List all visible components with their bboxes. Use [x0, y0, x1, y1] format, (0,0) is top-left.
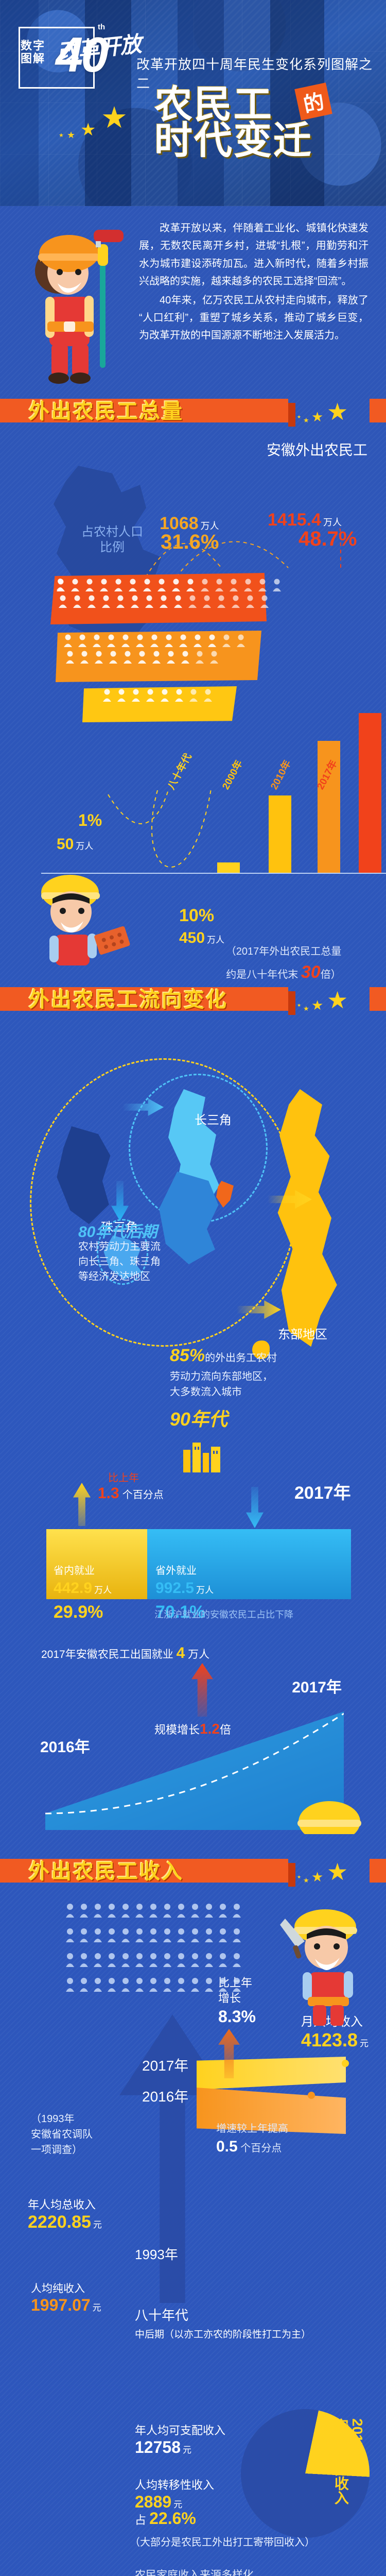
- abroad-growth-arrow-icon: [191, 1663, 213, 1717]
- section-income: （1993年安徽省农调队一项调查） 2017年 2016年 比上年增长8.3% …: [0, 1889, 386, 2576]
- label-east-region: 东部地区: [278, 1324, 327, 1342]
- increase-arrow-icon: [73, 1483, 91, 1526]
- intro-paragraph-2: 40年来，亿万农民工从农村走向城市，释放了“人口红利”，重塑了城乡关系，推动了城…: [139, 292, 369, 345]
- compare-value: 1.3个百分点: [98, 1485, 164, 1502]
- star-icon: ★: [59, 132, 64, 139]
- section-title-flow: 外出农民工流向变化: [29, 983, 228, 1013]
- abroad-year-2016: 2016年: [40, 1734, 90, 1757]
- intro-text: 改革开放以来，伴随着工业化、城镇化快速发展，无数农民离开乡村，进城“扎根”，用勤…: [139, 219, 369, 345]
- hero-banner: 数字图解 40 改革开放 th 改革开放四十周年民生变化系列图解之二 ★ ★ ★…: [0, 0, 386, 206]
- section-title-total: 外出农民工总量: [29, 395, 184, 425]
- mascot-trowel-man: [276, 1894, 374, 2028]
- pie-title: 2017年安徽农民收入: [332, 2418, 365, 2505]
- bar-2017: [359, 713, 381, 874]
- banner-bar-right: [370, 987, 386, 1011]
- hero-title-line2: 时代变迁: [154, 123, 313, 159]
- star-icon: ★: [303, 1876, 309, 1885]
- section-banner-income: 外出农民工收入 ★ ★ ★ ★: [0, 1849, 386, 1889]
- banner-bar-right: [370, 399, 386, 422]
- section-flow-change: 长三角 珠三角 东部地区 80年代后期 农村劳动力主要流向长三角、珠三角等经济发…: [0, 1017, 386, 1625]
- unit-wan: 万人: [323, 517, 342, 528]
- transfer-note: （大部分是农民工外出打工寄带回收入）: [130, 2534, 315, 2549]
- abroad-prefix: 2017年安徽农民工出国就业: [41, 1649, 177, 1660]
- year-total-income-block: 年人均总收入 2220.85元: [28, 2196, 102, 2232]
- income-year-1993: 1993年: [135, 2244, 178, 2263]
- star-icon: ★: [311, 997, 323, 1013]
- abroad-line: 2017年安徽农民工出国就业 4 万人: [41, 1645, 209, 1662]
- disposable-income-block: 年人均可支配收入 12758元: [135, 2421, 225, 2457]
- label-in-province: 省内就业: [54, 1562, 95, 1577]
- value-50: 50万人: [57, 836, 93, 853]
- star-icon: ★: [327, 986, 348, 1014]
- income-year-2017: 2017年: [142, 2055, 188, 2075]
- unit-wan: 万人: [76, 841, 93, 851]
- monthly-income-value: 4123.8元: [301, 2029, 369, 2051]
- speed-value: 0.5: [216, 2138, 238, 2155]
- star-icon: ★: [303, 416, 309, 425]
- transfer-income-block: 人均转移性收入 2889元: [135, 2476, 214, 2512]
- east-share-value: 85%: [170, 1346, 205, 1365]
- share-1-percent: 1%: [78, 811, 102, 830]
- section-banner-flow: 外出农民工流向变化 ★ ★ ★ ★: [0, 977, 386, 1017]
- label-yangtze-delta: 长三角: [195, 1110, 232, 1128]
- compare-number: 1.3: [98, 1485, 119, 1502]
- decrease-arrow-icon: [246, 1487, 264, 1528]
- value-out-province: 992.5万人: [155, 1580, 214, 1597]
- intro-paragraph-1: 改革开放以来，伴随着工业化、城镇化快速发展，无数农民离开乡村，进城“扎根”，用勤…: [139, 219, 369, 291]
- net-income-value: 1997.07元: [31, 2296, 101, 2315]
- star-icon: ★: [297, 1003, 301, 1008]
- share-2017: 48.7%: [299, 528, 357, 551]
- pct-in-province: 29.9%: [54, 1602, 103, 1622]
- speed-prefix: 增速较上年提高: [216, 2123, 288, 2134]
- star-icon: ★: [327, 398, 348, 426]
- transfer-pct-value: 22.6%: [149, 2509, 196, 2528]
- value-in-province: 442.9万人: [54, 1580, 112, 1597]
- stack-year-label: 2017年: [294, 1479, 351, 1504]
- era-80s-description: 农村劳动力主要流向长三角、珠三角等经济发达地区: [78, 1240, 161, 1284]
- value-2017-number: 1415.4: [268, 510, 321, 530]
- share-2010: 31.6%: [161, 531, 219, 554]
- net-income-label: 人均纯收入: [31, 2283, 85, 2295]
- unit-wan: 万人: [201, 521, 219, 531]
- east-share-block: 85%的外出务工农村劳动力流向东部地区，大多数流入城市: [170, 1343, 309, 1400]
- compare-unit: 个百分点: [122, 1489, 164, 1501]
- disposable-label: 年人均可支配收入: [135, 2424, 225, 2437]
- star-icon: ★: [303, 1005, 309, 1013]
- star-icon: ★: [101, 100, 128, 135]
- net-income-block: 人均纯收入 1997.07元: [31, 2280, 101, 2315]
- label-out-province: 省外就业: [155, 1562, 197, 1577]
- star-icon: ★: [327, 1858, 348, 1886]
- disposable-value: 12758元: [135, 2438, 225, 2457]
- income-speed-block: 增速较上年提高 0.5 个百分点: [216, 2122, 288, 2158]
- intro-section: 改革开放以来，伴随着工业化、城镇化快速发展，无数农民离开乡村，进城“扎根”，用勤…: [0, 206, 386, 381]
- x-tick-80s: 八十年代: [164, 751, 195, 792]
- bar-2000: [217, 862, 240, 874]
- infographic-page: 数字图解 40 改革开放 th 改革开放四十周年民生变化系列图解之二 ★ ★ ★…: [0, 0, 386, 2576]
- section-banner-total: 外出农民工总量 ★ ★ ★ ★: [0, 388, 386, 429]
- era-80s-label: 八十年代: [135, 2308, 188, 2323]
- mascot-helmet-peek: [288, 1772, 371, 1834]
- share-10-percent: 10%: [179, 906, 214, 926]
- compare-prev-label: 比上年: [108, 1469, 139, 1484]
- rural-share-label: 占农村人口比例: [66, 524, 159, 555]
- worker-pictogram-grid: [66, 1903, 251, 2001]
- hero-title-particle: 的: [294, 82, 332, 121]
- income-era-80s: 八十年代 中后期（以亦工亦农的阶段性打工为主）: [135, 2307, 311, 2342]
- bar-2000b: [269, 795, 291, 874]
- banner-star-cluster: ★ ★ ★ ★: [296, 399, 358, 425]
- abroad-unit: 万人: [188, 1649, 209, 1660]
- hero-title: 农民工 时代变迁: [154, 87, 313, 159]
- star-icon: ★: [311, 409, 323, 425]
- mascot-bricklayer-man: [32, 856, 145, 970]
- year-total-value: 2220.85元: [28, 2212, 102, 2232]
- abroad-growth-text: 规模增长1.2倍: [154, 1721, 231, 1737]
- banner-bar-right: [370, 1859, 386, 1883]
- income-year-2016: 2016年: [142, 2086, 188, 2106]
- banner-star-cluster: ★ ★ ★ ★: [296, 1859, 358, 1885]
- survey-note: （1993年安徽省农调队一项调查）: [31, 2111, 93, 2158]
- transfer-label: 人均转移性收入: [135, 2479, 214, 2492]
- income-fan-2017: [197, 2057, 346, 2090]
- abroad-value: 4: [177, 1645, 185, 1662]
- jiangzhehu-note: 江浙沪就业的安徽农民工占比下降: [154, 1607, 293, 1621]
- brand-th-suffix: th: [98, 23, 105, 31]
- growth-prefix: 规模增长: [154, 1723, 200, 1736]
- growth-value: 1.2: [200, 1721, 220, 1737]
- brand-label: 数字图解: [21, 40, 45, 65]
- star-icon: ★: [297, 414, 301, 420]
- growth-suffix: 倍: [220, 1723, 231, 1736]
- fan-endpoint-2017: [342, 2060, 349, 2067]
- star-icon: ★: [67, 130, 75, 141]
- speed-unit: 个百分点: [240, 2143, 282, 2154]
- star-cluster: ★ ★ ★ ★: [40, 102, 143, 138]
- era-80s-sub: 中后期（以亦工亦农的阶段性打工为主）: [135, 2329, 311, 2340]
- city-skyline-icon: [181, 1438, 223, 1472]
- banner-star-cluster: ★ ★ ★ ★: [296, 987, 358, 1013]
- income-growth-pct: 8.3%: [218, 2007, 256, 2026]
- era-80s-title: 80年代后期: [78, 1219, 157, 1242]
- section-total-migrant-workers: 安徽外出农民工 占农村人口比例 1068万人 31.6% 1415.4万人 48…: [0, 429, 386, 970]
- employment-stack-chart: 比上年 1.3个百分点 2017年 省内就业 省外就业 442.9万人 992.…: [46, 1501, 351, 1599]
- section-title-income: 外出农民工收入: [29, 1855, 184, 1885]
- star-icon: ★: [80, 120, 96, 140]
- section-abroad-employment: 2017年安徽农民工出国就业 4 万人 规模增长1.2倍 2016年 2017年: [0, 1625, 386, 1841]
- transfer-pct-block: 占 22.6%: [135, 2509, 196, 2528]
- transfer-pct-prefix: 占: [135, 2514, 149, 2527]
- year-total-label: 年人均总收入: [28, 2198, 96, 2211]
- star-icon: ★: [311, 1869, 323, 1885]
- abroad-year-2017: 2017年: [292, 1674, 342, 1697]
- fan-endpoint-2016: [308, 2092, 315, 2099]
- s1-label: 安徽外出农民工: [267, 439, 367, 460]
- star-icon: ★: [297, 1874, 301, 1880]
- era-90s-title: 90年代: [170, 1404, 227, 1431]
- hero-title-line1: 农民工: [154, 87, 313, 123]
- mascot-painter-woman: [21, 215, 139, 385]
- total-bar-chart: [212, 704, 377, 874]
- note-line-1: （2017年外出农民工总量: [226, 946, 342, 957]
